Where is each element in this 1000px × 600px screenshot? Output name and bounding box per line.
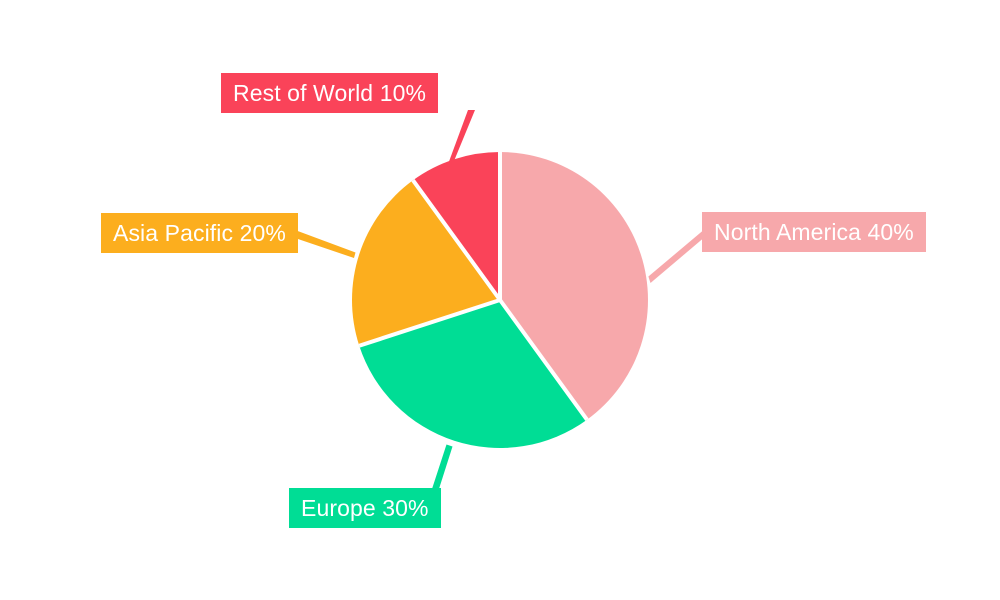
pie-label-asia-pacific[interactable]: Asia Pacific 20% xyxy=(101,213,298,253)
pie-label-north-america[interactable]: North America 40% xyxy=(702,212,926,252)
pie-label-rest-of-world[interactable]: Rest of World 10% xyxy=(221,73,438,113)
leader-line-asia-pacific xyxy=(295,230,356,258)
leader-line-north-america xyxy=(648,228,706,283)
leader-line-europe xyxy=(431,445,453,493)
pie-chart: North America 40% Europe 30% Asia Pacifi… xyxy=(0,0,1000,600)
pie-label-europe[interactable]: Europe 30% xyxy=(289,488,441,528)
pie-label-north-america-text: North America 40% xyxy=(714,221,914,244)
pie-chart-canvas xyxy=(0,0,1000,600)
pie-label-asia-pacific-text: Asia Pacific 20% xyxy=(113,222,286,245)
pie-label-rest-of-world-text: Rest of World 10% xyxy=(233,82,426,105)
pie-label-europe-text: Europe 30% xyxy=(301,497,429,520)
